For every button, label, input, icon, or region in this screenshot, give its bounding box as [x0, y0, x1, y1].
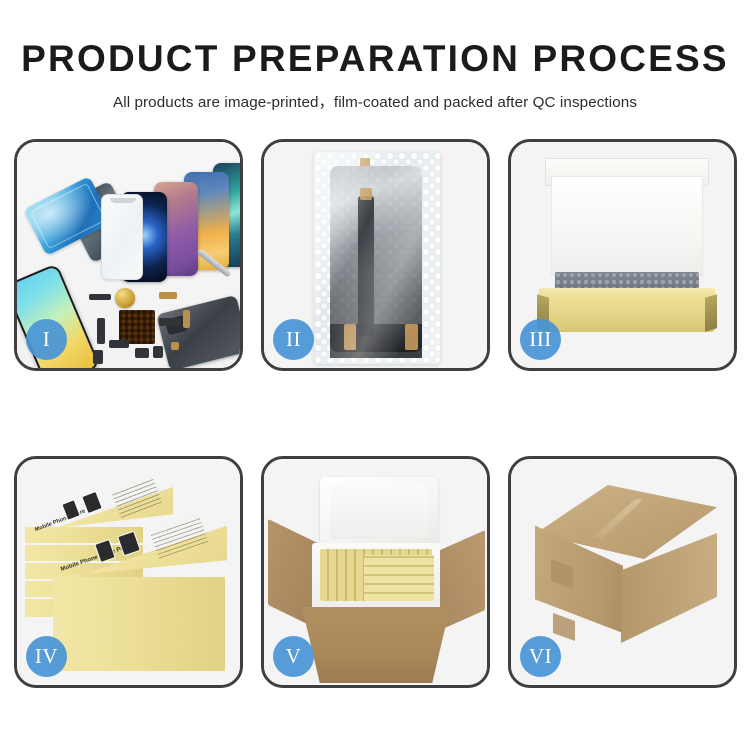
- foam-sheet-icon: [551, 176, 703, 276]
- yellow-box-body-icon: [539, 294, 715, 332]
- tempered-glass-icon: [101, 194, 143, 280]
- step-panel-4[interactable]: Mobile Phone Spare Parts Mobile Phone Sp…: [14, 456, 243, 688]
- process-step-grid: I II III: [14, 139, 736, 688]
- step-panel-3[interactable]: III: [508, 139, 737, 371]
- step-badge-6: VI: [520, 636, 561, 677]
- step-panel-2[interactable]: II: [261, 139, 490, 371]
- yellow-boxes-stack-icon: [364, 555, 434, 601]
- page-subtitle: All products are image-printed，film-coat…: [0, 90, 750, 112]
- step-panel-5[interactable]: V: [261, 456, 490, 688]
- carton-tape-lower-icon: [553, 613, 575, 641]
- step-badge-5: V: [273, 636, 314, 677]
- speaker-coil-icon: [115, 288, 135, 308]
- foam-lid-icon: [320, 477, 438, 549]
- page-header: PRODUCT PREPARATION PROCESS All products…: [0, 0, 750, 112]
- step-badge-1: I: [26, 319, 67, 360]
- step-badge-2: II: [273, 319, 314, 360]
- carton-front-icon: [302, 607, 450, 683]
- chip-grid-icon: [119, 310, 155, 344]
- bubble-wrap-bag-icon: [314, 152, 440, 364]
- step-panel-6[interactable]: VI: [508, 456, 737, 688]
- step-badge-4: IV: [26, 636, 67, 677]
- step-panel-1[interactable]: I: [14, 139, 243, 371]
- step-badge-3: III: [520, 319, 561, 360]
- page-title: PRODUCT PREPARATION PROCESS: [0, 40, 750, 79]
